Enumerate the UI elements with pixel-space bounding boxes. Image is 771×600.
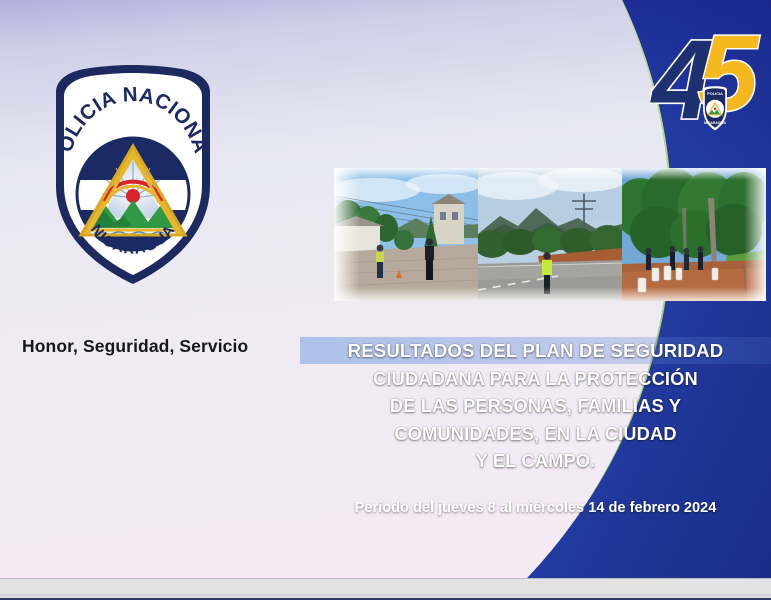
slide-scroll-bar[interactable] — [0, 594, 771, 597]
photo-edge-fade — [744, 168, 766, 301]
screenshot-stage: POLICIA NACIONAL — [0, 0, 771, 600]
below-slide-area — [0, 578, 771, 600]
photo-edge-fade — [334, 287, 478, 301]
anniversary-badge-icon: POLICIA NICARAGUA — [703, 86, 727, 130]
period-text: Período del jueves 8 al miércoles 14 de … — [300, 500, 771, 516]
title-line-2: CIUDADANA PARA LA PROTECCIÓN — [300, 365, 771, 393]
photo-edge-fade — [478, 168, 622, 180]
photo-village-street — [334, 168, 478, 301]
photo-strip — [334, 168, 766, 301]
presentation-slide: POLICIA NACIONAL — [0, 0, 771, 578]
officer-figure-1 — [376, 245, 384, 278]
photo-edge-fade — [334, 168, 360, 301]
title-line-1: RESULTADOS DEL PLAN DE SEGURIDAD — [300, 337, 771, 365]
svg-text:NICARAGUA: NICARAGUA — [704, 121, 726, 125]
anniversary-45-logo: 4 5 POLICIA NICARAGUA — [650, 14, 771, 142]
motto-text: Honor, Seguridad, Servicio — [22, 336, 312, 357]
photo-edge-fade — [334, 168, 478, 180]
photo-highway-officer — [478, 168, 622, 301]
title-line-3: DE LAS PERSONAS, FAMILIAS Y — [300, 392, 771, 420]
photo-edge-fade — [478, 287, 622, 301]
policia-nacional-emblem: POLICIA NACIONAL — [44, 58, 222, 290]
photo-field-activity — [622, 168, 766, 301]
title-line-5: Y EL CAMPO. — [300, 447, 771, 475]
svg-text:POLICIA: POLICIA — [707, 91, 723, 96]
photo-edge-fade — [622, 287, 766, 301]
photo-edge-fade — [622, 168, 766, 180]
slide-title: RESULTADOS DEL PLAN DE SEGURIDAD CIUDADA… — [300, 337, 771, 475]
title-line-4: COMUNIDADES, EN LA CIUDAD — [300, 420, 771, 448]
